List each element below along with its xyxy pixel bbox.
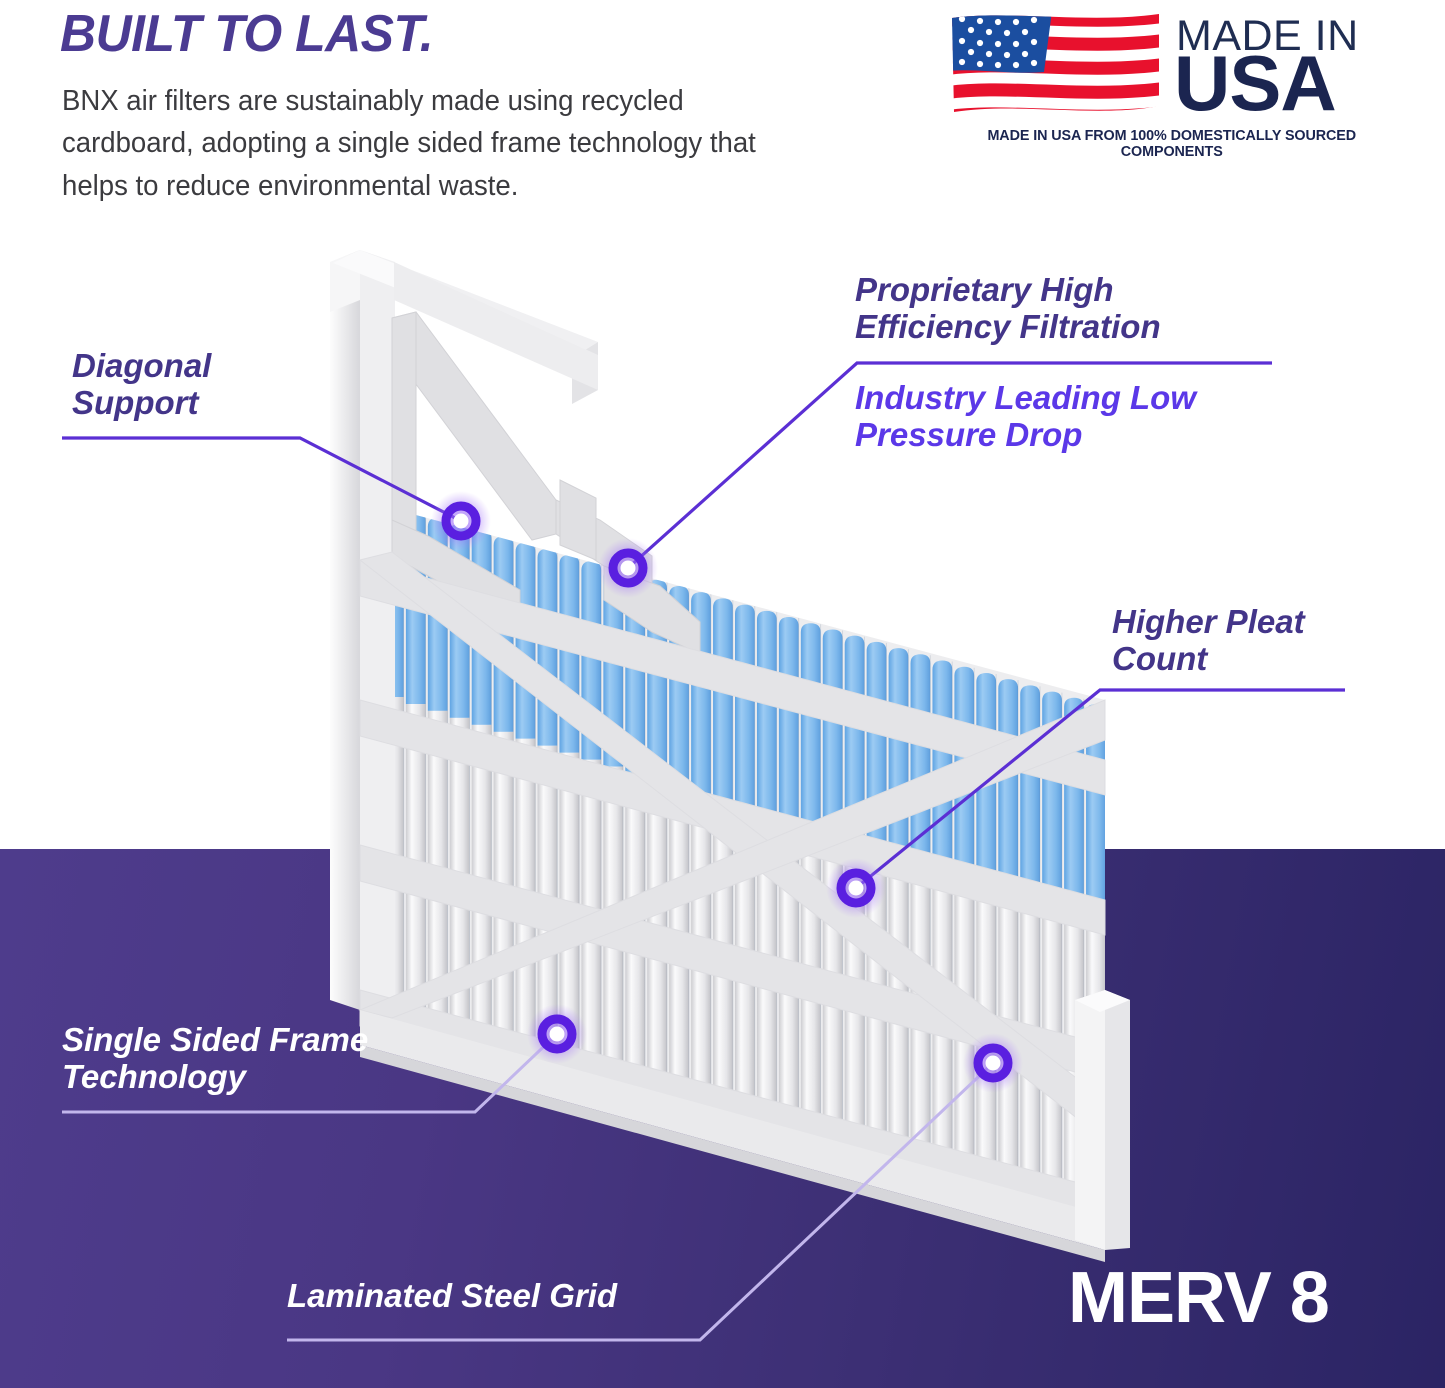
page-title: BUILT TO LAST.	[60, 4, 433, 64]
callout-proprietary-line1: Proprietary High	[855, 272, 1161, 309]
frame-diagonal-supports	[392, 312, 700, 654]
callout-pleat-line2: Count	[1112, 641, 1305, 678]
infographic-stage: BUILT TO LAST. BNX air filters are susta…	[0, 0, 1445, 1388]
callout-diagonal-support-line1: Diagonal	[72, 348, 211, 385]
callout-proprietary-filtration: Proprietary High Efficiency Filtration	[855, 272, 1161, 346]
usa-flag-icon	[948, 10, 1163, 120]
marker-diagonal-support[interactable]	[431, 491, 491, 551]
callout-industry-line1: Industry Leading Low	[855, 380, 1196, 417]
callout-industry-line2: Pressure Drop	[855, 417, 1196, 454]
leader-line-diagonal-support	[62, 438, 461, 521]
callout-diagonal-support: Diagonal Support	[72, 348, 211, 422]
callout-laminated-steel-grid: Laminated Steel Grid	[287, 1278, 617, 1315]
callout-single-sided-frame: Single Sided Frame Technology	[62, 1022, 368, 1096]
merv-rating-label: MERV 8	[1068, 1262, 1329, 1334]
badge-tagline: MADE IN USA FROM 100% DOMESTICALLY SOURC…	[948, 128, 1395, 160]
callout-ssft-line1: Single Sided Frame	[62, 1022, 368, 1059]
frame-top-rail	[333, 250, 598, 404]
callout-diagonal-support-line2: Support	[72, 385, 211, 422]
callout-low-pressure-drop: Industry Leading Low Pressure Drop	[855, 380, 1196, 454]
marker-low-pressure-drop[interactable]	[598, 538, 658, 598]
callout-higher-pleat-count: Higher Pleat Count	[1112, 604, 1305, 678]
callout-grid-line1: Laminated Steel Grid	[287, 1278, 617, 1315]
made-in-usa-badge: MADE IN USA MADE IN USA FROM 100% DOMEST…	[948, 6, 1400, 146]
badge-country-label: USA	[1174, 46, 1336, 120]
callout-ssft-line2: Technology	[62, 1059, 368, 1096]
intro-paragraph: BNX air filters are sustainably made usi…	[62, 80, 813, 207]
callout-pleat-line1: Higher Pleat	[1112, 604, 1305, 641]
callout-proprietary-line2: Efficiency Filtration	[855, 309, 1161, 346]
